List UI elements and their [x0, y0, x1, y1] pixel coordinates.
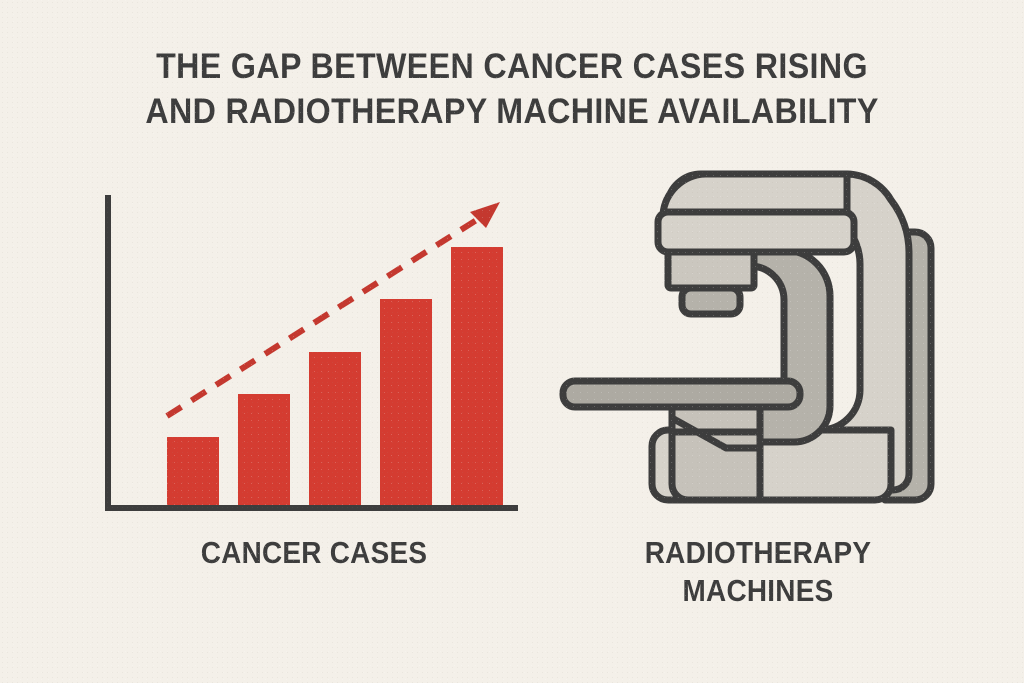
radiotherapy-machines-label: RADIOTHERAPY MACHINES [573, 534, 944, 610]
patient-couch [563, 381, 800, 407]
nozzle [682, 288, 740, 314]
gantry-head-box [658, 212, 854, 252]
gantry-head-shell [663, 174, 847, 214]
collimator [668, 252, 754, 288]
couch-base [672, 406, 760, 500]
